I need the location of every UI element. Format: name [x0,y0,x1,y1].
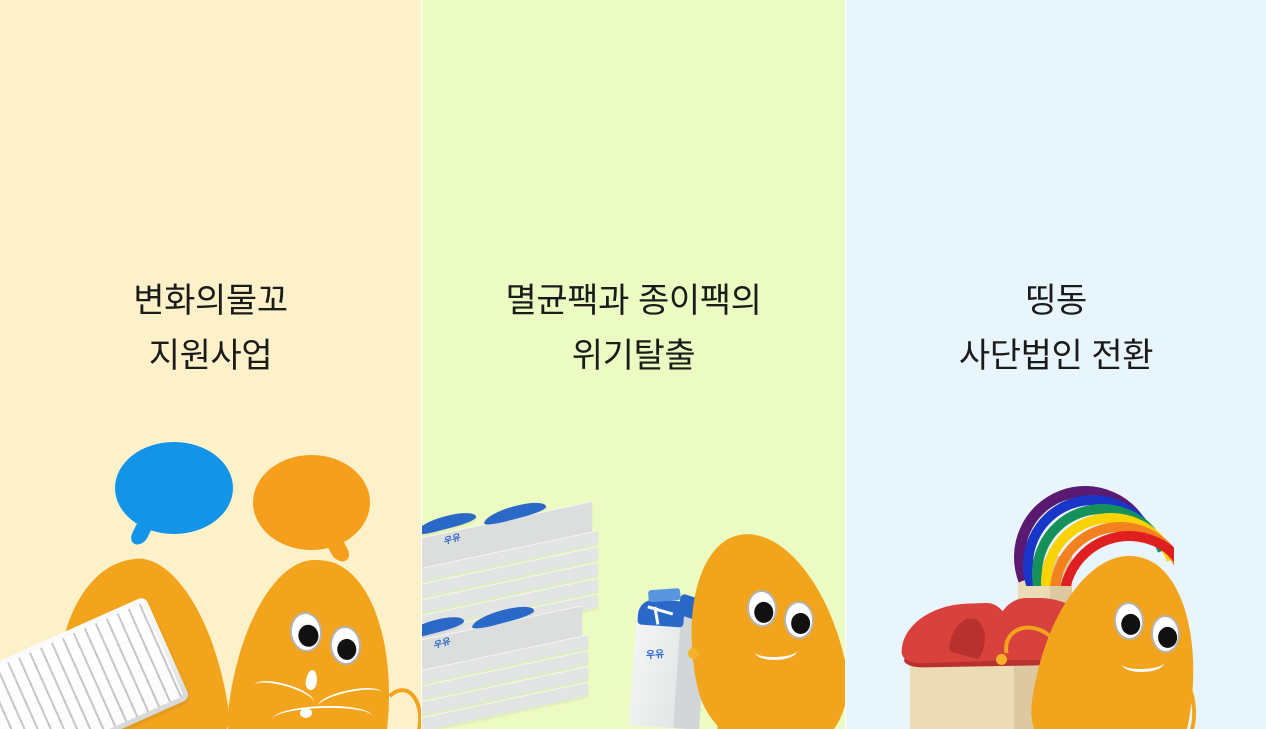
illustration-house-rainbow [846,0,1266,729]
panel-change-waterway[interactable]: 변화의물꼬 지원사업 [0,0,421,729]
character-hand [996,654,1007,665]
illustration-milk-cartons: 우유 우유 [422,0,845,729]
right-character-mask-knot [300,708,312,718]
blue-speech-bubble [115,442,233,534]
panel-sterile-pack[interactable]: 우유 우유 [422,0,845,729]
carton-spout [648,588,681,602]
pupil [297,624,319,648]
orange-speech-bubble [253,455,370,550]
pupil [337,638,357,660]
pupil [1121,613,1141,635]
pupil [754,601,774,623]
house-front-wall [910,660,1014,729]
carton-stack-lower: 우유 [422,624,604,729]
character-hand [688,648,699,659]
carton-milk-label: 우유 [646,650,665,662]
carton-cap [637,598,685,627]
pupil [1158,627,1178,649]
keyboard-keys [0,603,184,729]
pupil [791,613,811,635]
three-panel-banner: 변화의물꼬 지원사업 우유 우유 [0,0,1266,729]
panel-ddingdong[interactable]: 띵동 사단법인 전환 [846,0,1266,729]
illustration-two-characters [0,0,421,729]
